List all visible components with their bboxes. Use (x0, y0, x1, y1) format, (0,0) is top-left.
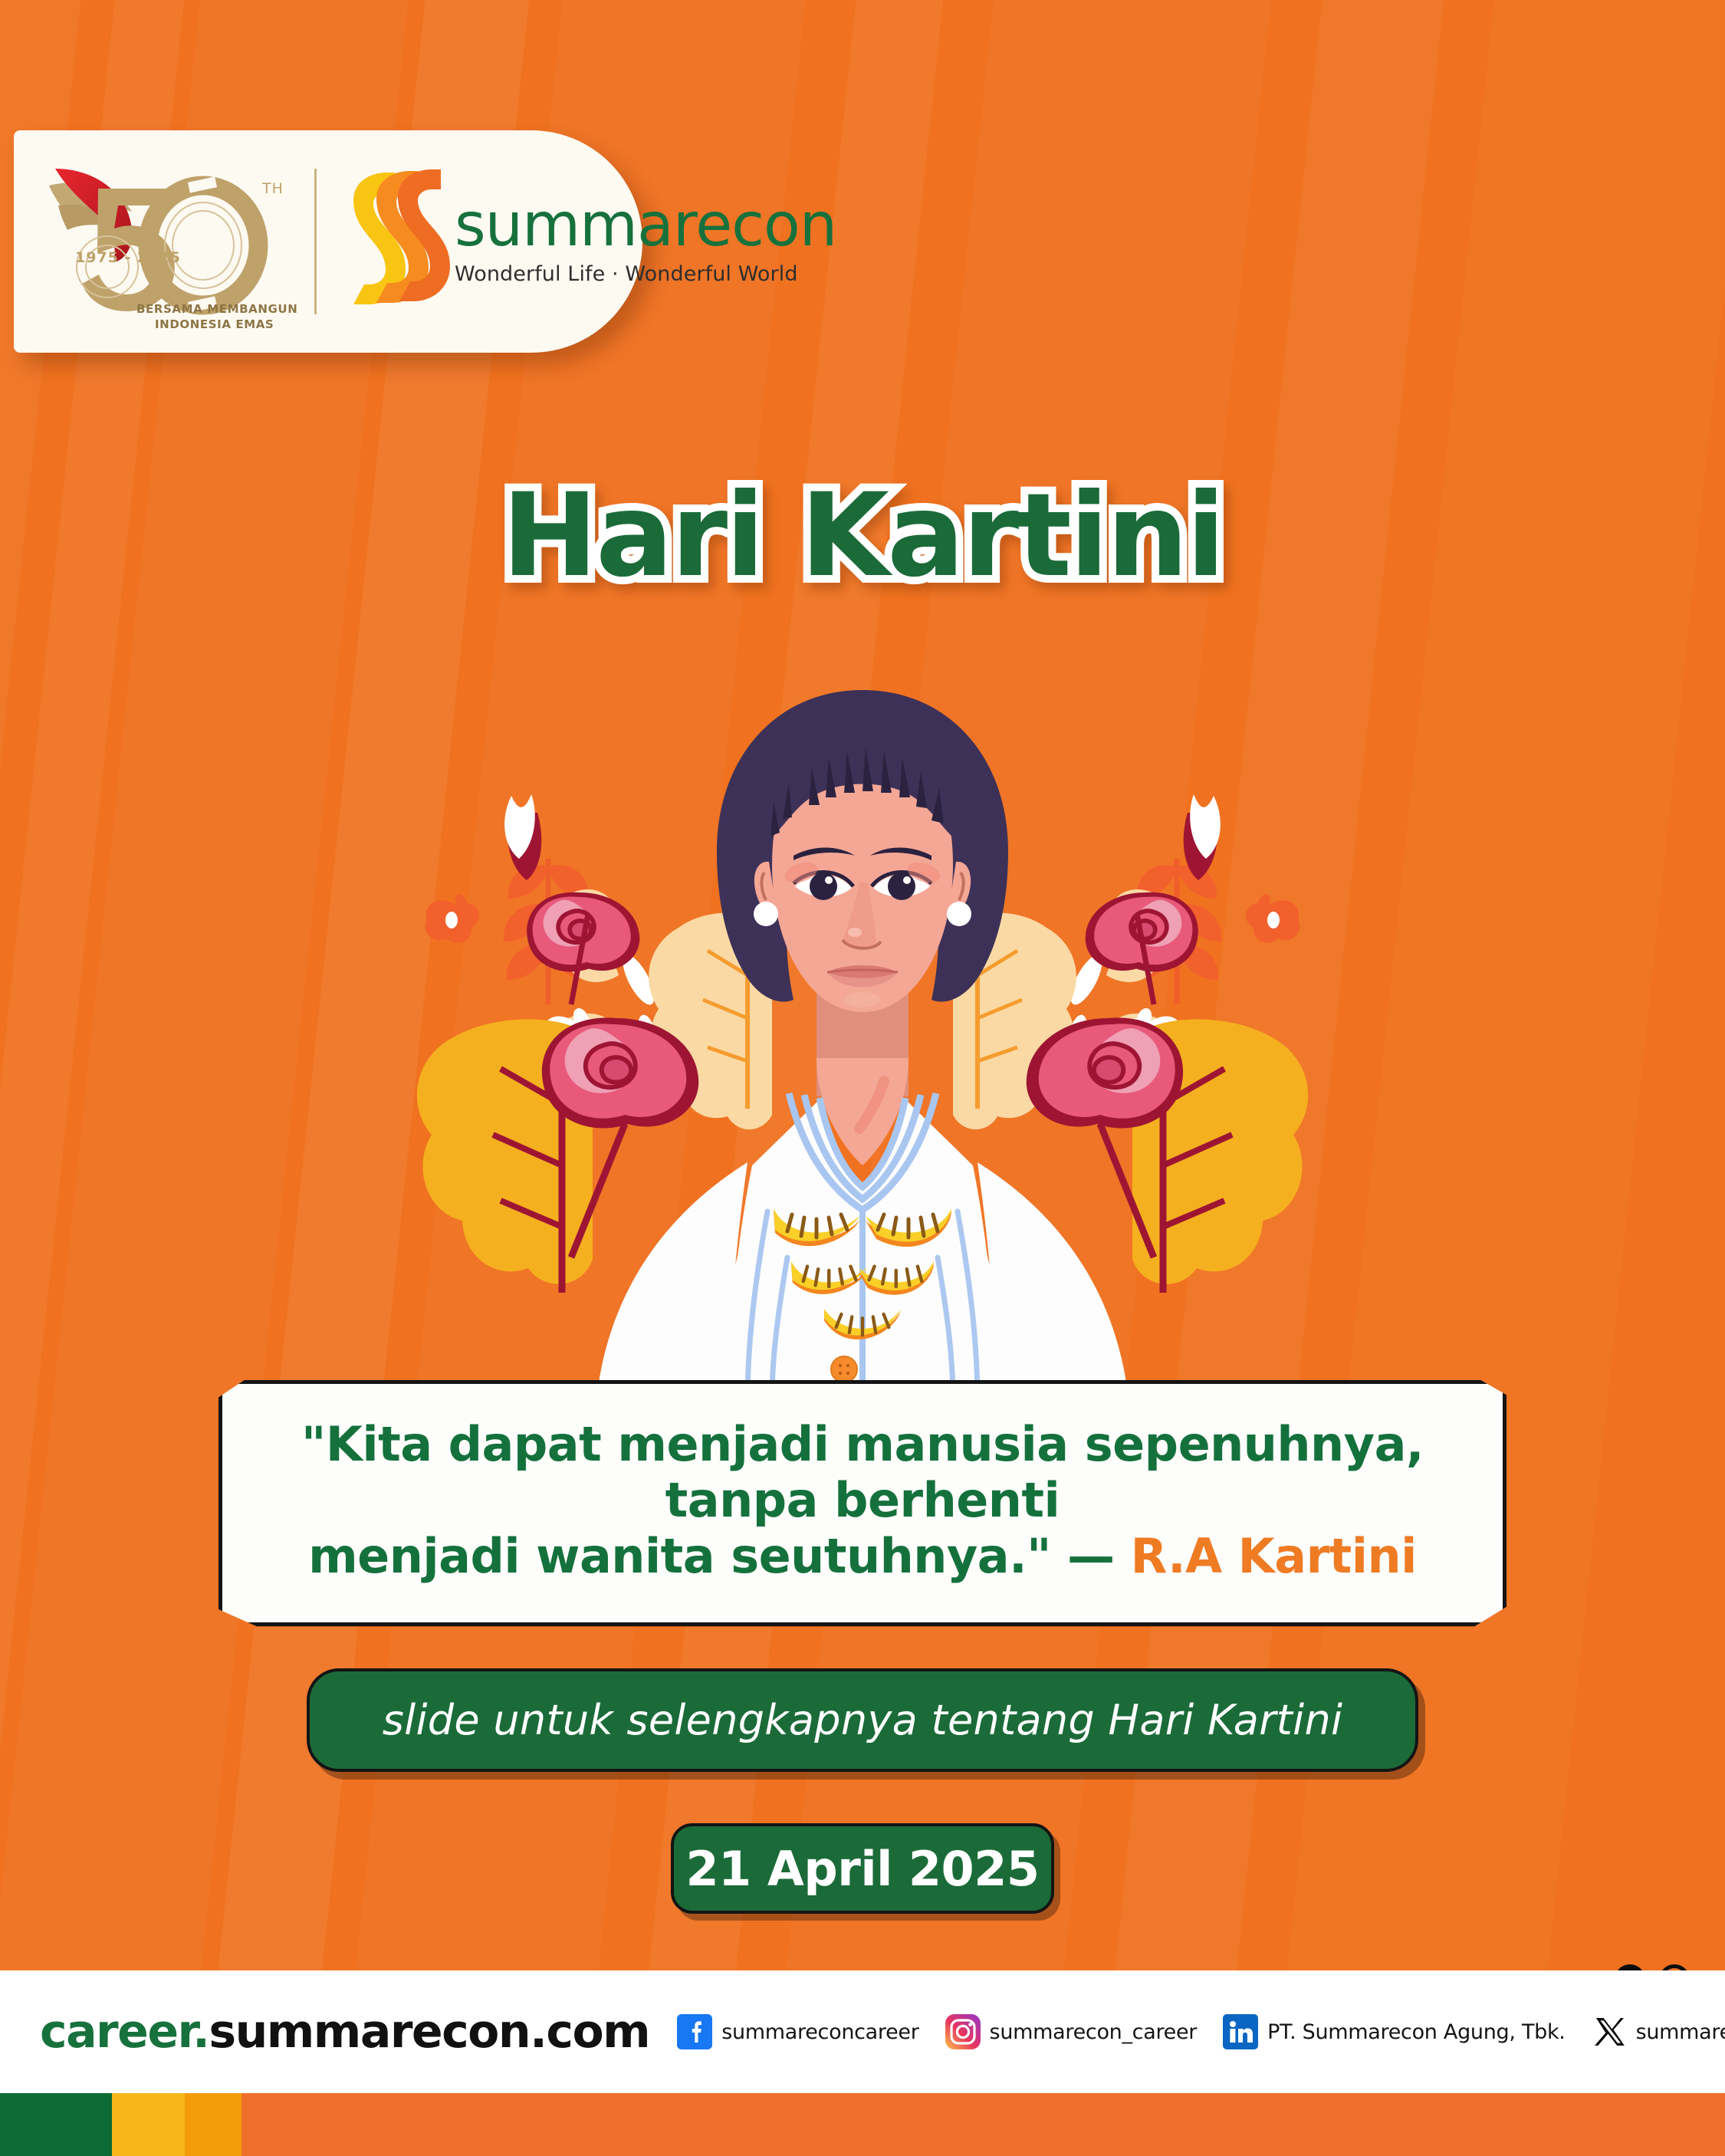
website-url[interactable]: career.summarecon.com (40, 2005, 649, 2059)
social-linkedin[interactable]: PT. Summarecon Agung, Tbk. (1223, 2014, 1566, 2049)
quote-card: "Kita dapat menjadi manusia sepenuhnya, … (219, 1380, 1506, 1626)
anniversary-50th-logo: TH 1975 - 2025 BERSAMA MEMBANGUN INDONES… (38, 146, 307, 337)
strip-segment-0 (0, 2093, 112, 2156)
facebook-icon (677, 2014, 712, 2049)
linkedin-icon (1223, 2014, 1258, 2049)
svg-text:INDONESIA EMAS: INDONESIA EMAS (155, 317, 274, 331)
strip-segment-3 (242, 2093, 1725, 2156)
footer-bar: career.summarecon.com summareconcareer (0, 1970, 1725, 2093)
quote-line-1: "Kita dapat menjadi manusia sepenuhnya, … (301, 1416, 1424, 1528)
headline-container: Hari Kartini (0, 469, 1725, 603)
logo-divider (314, 169, 317, 314)
social-instagram[interactable]: summarecon_career (945, 2014, 1198, 2049)
social-facebook[interactable]: summareconcareer (677, 2014, 918, 2049)
date-badge: 21 April 2025 (671, 1823, 1054, 1914)
website-url-domain: summarecon.com (209, 2005, 649, 2059)
summarecon-tagline: Wonderful Life · Wonderful World (455, 262, 836, 286)
svg-text:TH: TH (261, 180, 284, 197)
instagram-handle: summarecon_career (990, 2020, 1198, 2044)
kartini-illustration (318, 675, 1407, 1441)
strip-segment-1 (112, 2093, 185, 2156)
social-links: summareconcareer summarecon_career (677, 2014, 1725, 2049)
quote-dash: — (1067, 1528, 1115, 1584)
strip-segment-2 (185, 2093, 242, 2156)
swipe-cta-label: slide untuk selengkapnya tentang Hari Ka… (383, 1696, 1343, 1744)
swipe-cta-button[interactable]: slide untuk selengkapnya tentang Hari Ka… (307, 1668, 1418, 1772)
quote-text: "Kita dapat menjadi manusia sepenuhnya, … (258, 1416, 1467, 1584)
svg-text:1975 - 2025: 1975 - 2025 (75, 249, 181, 266)
summarecon-wordmark: summarecon (455, 197, 836, 255)
social-x-twitter[interactable]: summareconkarir (1592, 2014, 1725, 2049)
facebook-handle: summareconcareer (721, 2020, 918, 2044)
page-title: Hari Kartini (501, 469, 1223, 603)
summarecon-s-mark-icon (340, 165, 455, 318)
poster-canvas: TH 1975 - 2025 BERSAMA MEMBANGUN INDONES… (0, 0, 1725, 2156)
bottom-color-strip (0, 2093, 1725, 2156)
instagram-icon (945, 2014, 981, 2049)
x-twitter-handle: summareconkarir (1636, 2020, 1725, 2044)
svg-text:BERSAMA MEMBANGUN: BERSAMA MEMBANGUN (136, 302, 297, 316)
date-label: 21 April 2025 (686, 1841, 1040, 1897)
website-url-prefix: career. (40, 2005, 209, 2059)
quote-author: R.A Kartini (1131, 1528, 1417, 1584)
x-twitter-icon (1592, 2014, 1627, 2049)
summarecon-logo: summarecon Wonderful Life · Wonderful Wo… (340, 165, 836, 318)
quote-line-2: menjadi wanita seutuhnya." (308, 1528, 1051, 1584)
linkedin-handle: PT. Summarecon Agung, Tbk. (1267, 2020, 1566, 2044)
brand-logo-pill: TH 1975 - 2025 BERSAMA MEMBANGUN INDONES… (14, 130, 642, 353)
